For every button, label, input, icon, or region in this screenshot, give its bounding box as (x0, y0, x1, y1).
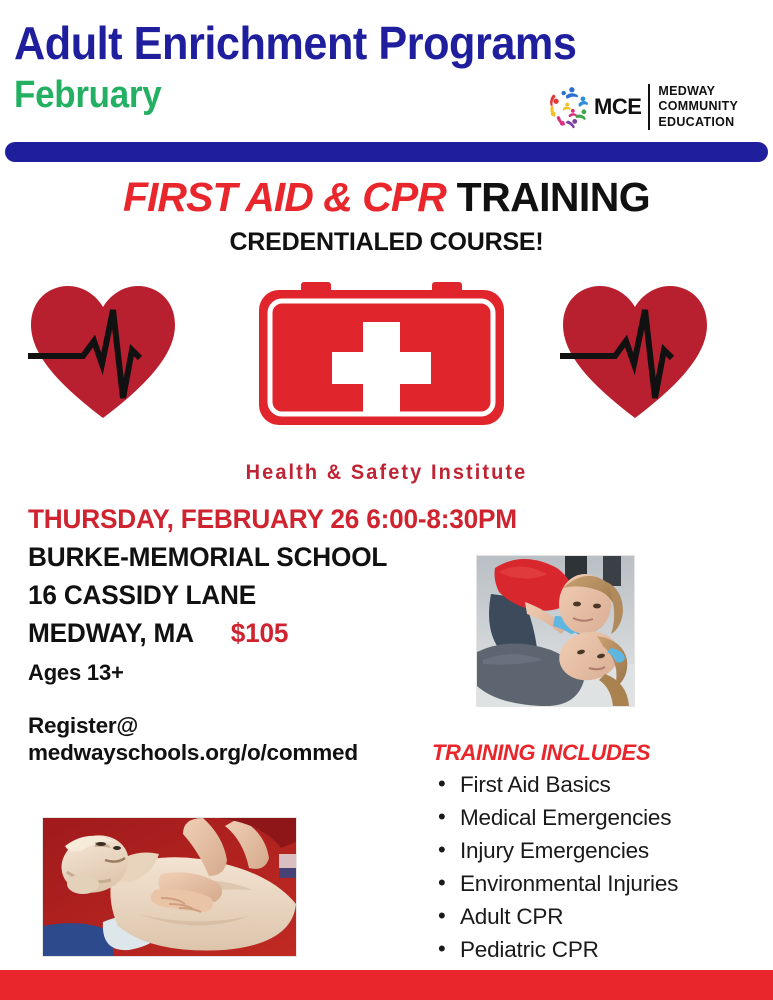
icon-row (0, 276, 773, 436)
provider-label: Health & Safety Institute (19, 461, 753, 485)
event-details: THURSDAY, FEBRUARY 26 6:00-8:30PM BURKE-… (28, 500, 458, 652)
heartbeat-heart-icon (560, 280, 710, 422)
flyer-header: Adult Enrichment Programs February (0, 0, 773, 140)
list-item: Medical Emergencies (432, 801, 773, 834)
training-includes-list: First Aid Basics Medical Emergencies Inj… (432, 768, 773, 966)
headline-red-part: FIRST AID & CPR (123, 174, 446, 220)
training-includes-section: TRAINING INCLUDES First Aid Basics Medic… (432, 740, 773, 966)
list-item: First Aid Basics (432, 768, 773, 801)
age-requirement: Ages 13+ (28, 660, 124, 686)
register-label: Register@ (28, 712, 358, 739)
mce-abbreviation: MCE (594, 94, 641, 120)
list-item: Adult CPR (432, 900, 773, 933)
mce-people-circle-icon (545, 83, 593, 131)
logo-org-line-1: MEDWAY (658, 84, 738, 100)
logo-divider (648, 84, 650, 130)
headline-black-part: TRAINING (446, 174, 650, 220)
register-url[interactable]: medwayschools.org/o/commed (28, 739, 358, 766)
event-city-state: MEDWAY, MA (28, 618, 194, 648)
page-subtitle-month: February (14, 76, 161, 114)
footer-red-bar (0, 970, 773, 1000)
logo-org-line-2: COMMUNITY (658, 99, 738, 115)
heartbeat-heart-icon (28, 280, 178, 422)
mce-logo: MCE MEDWAY COMMUNITY EDUCATION (545, 78, 750, 136)
course-headline: FIRST AID & CPR TRAINING (0, 173, 773, 221)
training-includes-title: TRAINING INCLUDES (432, 740, 773, 766)
first-aid-kit-icon (253, 276, 510, 431)
event-venue: BURKE-MEMORIAL SCHOOL (28, 538, 445, 576)
rescue-breathing-photo (477, 556, 634, 706)
registration-info: Register@ medwayschools.org/o/commed (28, 712, 358, 766)
event-datetime: THURSDAY, FEBRUARY 26 6:00-8:30PM (28, 500, 445, 538)
event-price: $105 (231, 618, 288, 648)
event-city-state-price: MEDWAY, MA$105 (28, 614, 445, 652)
list-item: Environmental Injuries (432, 867, 773, 900)
logo-org-line-3: EDUCATION (658, 115, 738, 131)
list-item: Pediatric CPR (432, 933, 773, 966)
cpr-manikin-photo (43, 818, 296, 956)
page-title: Adult Enrichment Programs (14, 20, 576, 66)
logo-org-name: MEDWAY COMMUNITY EDUCATION (658, 84, 738, 131)
list-item: Injury Emergencies (432, 834, 773, 867)
navy-divider-bar (5, 142, 768, 162)
course-subheadline: CREDENTIALED COURSE! (0, 228, 773, 257)
event-street: 16 CASSIDY LANE (28, 576, 445, 614)
